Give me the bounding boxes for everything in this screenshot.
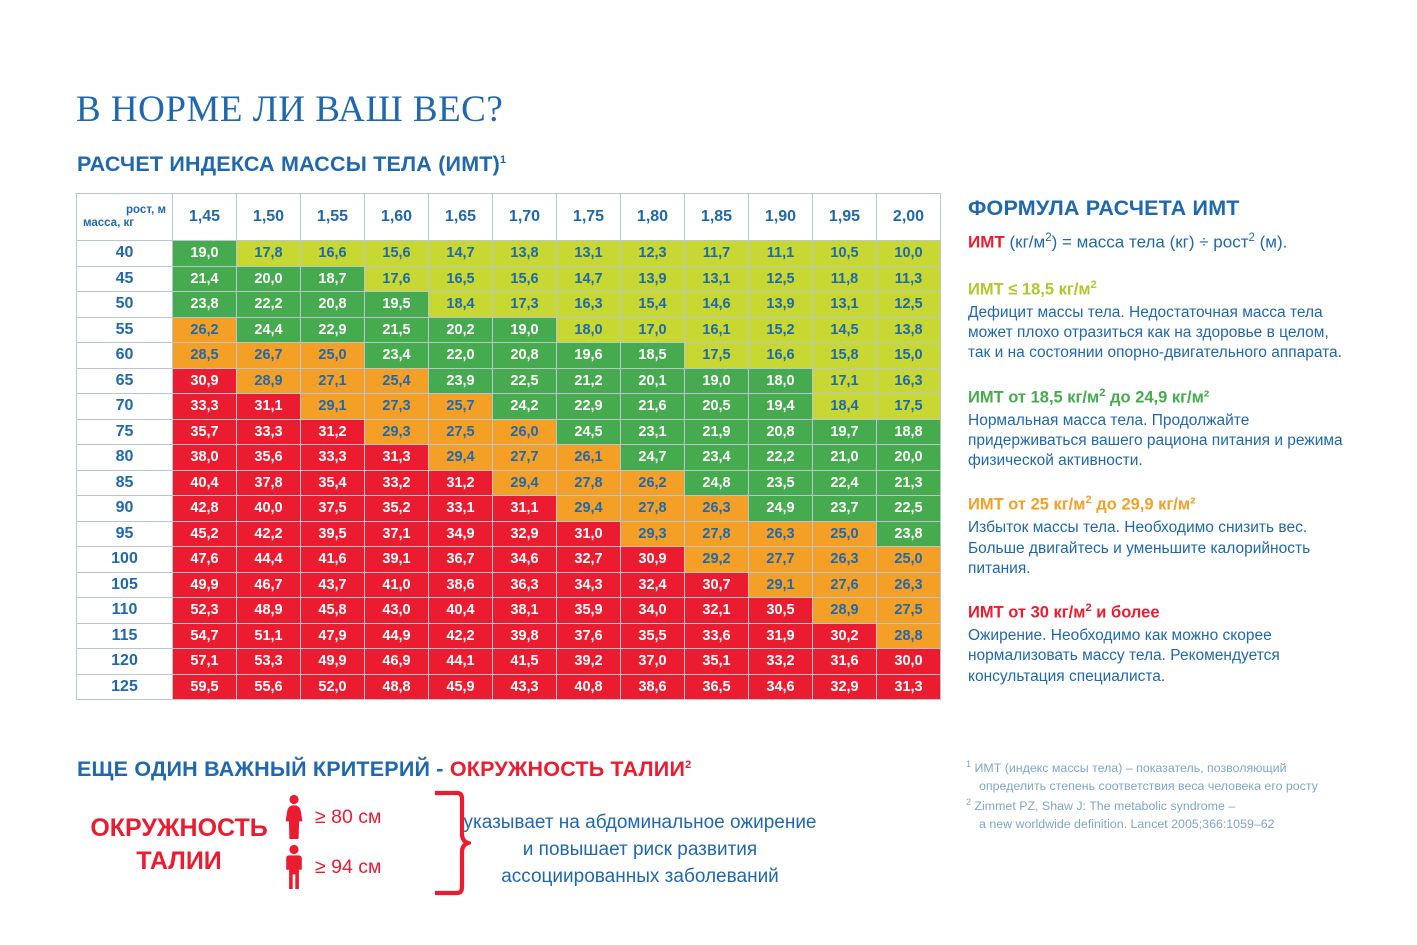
- table-row-header-weight: 80: [77, 445, 173, 471]
- bmi-cell: 29,3: [621, 521, 685, 547]
- bmi-table-body: 4019,017,816,615,614,713,813,112,311,711…: [77, 241, 941, 700]
- bmi-cell: 26,2: [173, 317, 237, 343]
- bmi-cell: 19,0: [493, 317, 557, 343]
- table-row-header-weight: 65: [77, 368, 173, 394]
- bmi-cell: 24,5: [557, 419, 621, 445]
- bmi-cell: 21,9: [685, 419, 749, 445]
- footnote-marker-2: 2: [685, 759, 691, 771]
- footnote-1-line1: ИМТ (индекс массы тела) – показатель, по…: [974, 761, 1286, 775]
- bmi-cell: 35,5: [621, 623, 685, 649]
- bmi-cell: 18,8: [877, 419, 941, 445]
- footnotes: 1 ИМТ (индекс массы тела) – показатель, …: [966, 758, 1358, 835]
- table-row: 11052,348,945,843,040,438,135,934,032,13…: [77, 598, 941, 624]
- waist-row-male: ≥ 94 см: [281, 844, 381, 890]
- bmi-cell: 48,8: [365, 674, 429, 700]
- formula-eq-part3: (м).: [1255, 233, 1287, 252]
- table-col-header-height: 1,80: [621, 194, 685, 241]
- bmi-cell: 27,8: [685, 521, 749, 547]
- table-row: 11554,751,147,944,942,239,837,635,533,63…: [77, 623, 941, 649]
- bmi-cell: 25,4: [365, 368, 429, 394]
- bmi-cell: 23,4: [365, 343, 429, 369]
- table-header-row: рост, м масса, кг 1,451,501,551,601,651,…: [77, 194, 941, 241]
- bmi-cell: 37,1: [365, 521, 429, 547]
- bmi-cell: 14,6: [685, 292, 749, 318]
- bmi-cell: 26,3: [813, 547, 877, 573]
- bmi-category-heading-post: до 24,9 кг/м²: [1105, 388, 1209, 406]
- bmi-cell: 20,0: [877, 445, 941, 471]
- bmi-cell: 20,2: [429, 317, 493, 343]
- bmi-cell: 39,2: [557, 649, 621, 675]
- bmi-cell: 36,3: [493, 572, 557, 598]
- bmi-category-heading: ИМТ ≤ 18,5 кг/м2: [968, 278, 1348, 301]
- bmi-cell: 38,6: [621, 674, 685, 700]
- bmi-cell: 18,4: [813, 394, 877, 420]
- table-row: 9042,840,037,535,233,131,129,427,826,324…: [77, 496, 941, 522]
- table-row: 6028,526,725,023,422,020,819,618,517,516…: [77, 343, 941, 369]
- bmi-cell: 27,1: [301, 368, 365, 394]
- bmi-category-normal: ИМТ от 18,5 кг/м2 до 24,9 кг/м²Нормальна…: [968, 386, 1348, 472]
- bmi-cell: 47,6: [173, 547, 237, 573]
- bmi-cell: 27,3: [365, 394, 429, 420]
- bmi-cell: 18,4: [429, 292, 493, 318]
- bmi-cell: 47,9: [301, 623, 365, 649]
- bmi-cell: 28,9: [813, 598, 877, 624]
- table-col-header-height: 1,90: [749, 194, 813, 241]
- bmi-cell: 17,1: [813, 368, 877, 394]
- bmi-cell: 28,5: [173, 343, 237, 369]
- bmi-cell: 13,1: [813, 292, 877, 318]
- bmi-cell: 27,8: [621, 496, 685, 522]
- bmi-cell: 17,8: [237, 241, 301, 267]
- bmi-cell: 14,5: [813, 317, 877, 343]
- bmi-cell: 24,8: [685, 470, 749, 496]
- bmi-cell: 37,0: [621, 649, 685, 675]
- bmi-table: рост, м масса, кг 1,451,501,551,601,651,…: [76, 193, 941, 700]
- table-row-header-weight: 125: [77, 674, 173, 700]
- bmi-cell: 21,6: [621, 394, 685, 420]
- section-title-waist: ЕЩЕ ОДИН ВАЖНЫЙ КРИТЕРИЙ - ОКРУЖНОСТЬ ТА…: [77, 757, 691, 782]
- bmi-cell: 11,7: [685, 241, 749, 267]
- male-waist-value: ≥ 94 см: [315, 856, 381, 879]
- bmi-cell: 36,7: [429, 547, 493, 573]
- waist-label-line2: ТАЛИИ: [136, 847, 222, 875]
- bmi-cell: 29,3: [365, 419, 429, 445]
- table-col-header-height: 1,55: [301, 194, 365, 241]
- bmi-category-description: Дефицит массы тела. Недостаточная масса …: [968, 303, 1348, 364]
- bmi-cell: 19,7: [813, 419, 877, 445]
- bmi-cell: 22,4: [813, 470, 877, 496]
- bmi-cell: 46,7: [237, 572, 301, 598]
- table-row-header-weight: 120: [77, 649, 173, 675]
- bmi-cell: 48,9: [237, 598, 301, 624]
- bmi-cell: 34,3: [557, 572, 621, 598]
- table-row: 8540,437,835,433,231,229,427,826,224,823…: [77, 470, 941, 496]
- bmi-cell: 24,7: [621, 445, 685, 471]
- table-row-header-weight: 50: [77, 292, 173, 318]
- bmi-cell: 10,5: [813, 241, 877, 267]
- bmi-cell: 57,1: [173, 649, 237, 675]
- bmi-cell: 19,0: [685, 368, 749, 394]
- bmi-cell: 43,3: [493, 674, 557, 700]
- bmi-cell: 26,3: [749, 521, 813, 547]
- bmi-cell: 12,5: [749, 266, 813, 292]
- bmi-cell: 54,7: [173, 623, 237, 649]
- bmi-cell: 22,5: [877, 496, 941, 522]
- bmi-cell: 23,8: [877, 521, 941, 547]
- bmi-category-heading-post: и более: [1092, 604, 1160, 622]
- bmi-cell: 35,4: [301, 470, 365, 496]
- bmi-cell: 19,0: [173, 241, 237, 267]
- bmi-cell: 28,8: [877, 623, 941, 649]
- bmi-category-description: Нормальная масса тела. Продолжайте приде…: [968, 411, 1348, 472]
- bmi-cell: 26,1: [557, 445, 621, 471]
- bmi-cell: 27,5: [429, 419, 493, 445]
- bmi-category-over: ИМТ от 25 кг/м2 до 29,9 кг/м²Избыток мас…: [968, 493, 1348, 579]
- waist-label-line1: ОКРУЖНОСТЬ: [90, 814, 267, 842]
- table-row: 6530,928,927,125,423,922,521,220,119,018…: [77, 368, 941, 394]
- table-row: 10549,946,743,741,038,636,334,332,430,72…: [77, 572, 941, 598]
- bmi-cell: 29,1: [301, 394, 365, 420]
- bmi-cell: 19,4: [749, 394, 813, 420]
- bmi-cell: 26,3: [685, 496, 749, 522]
- bmi-cell: 24,9: [749, 496, 813, 522]
- bmi-category-under: ИМТ ≤ 18,5 кг/м2Дефицит массы тела. Недо…: [968, 278, 1348, 364]
- table-row-header-weight: 90: [77, 496, 173, 522]
- bmi-cell: 26,7: [237, 343, 301, 369]
- bmi-cell: 14,7: [557, 266, 621, 292]
- waist-desc-line3: ассоциированных заболеваний: [501, 866, 779, 887]
- bmi-category-obese: ИМТ от 30 кг/м2 и болееОжирение. Необход…: [968, 601, 1348, 687]
- bmi-cell: 33,3: [237, 419, 301, 445]
- bmi-cell: 31,2: [301, 419, 365, 445]
- bmi-cell: 16,6: [301, 241, 365, 267]
- table-col-header-height: 1,70: [493, 194, 557, 241]
- bmi-cell: 44,9: [365, 623, 429, 649]
- formula-equation: ИМТ (кг/м2) = масса тела (кг) ÷ рост2 (м…: [968, 231, 1348, 254]
- bmi-cell: 44,1: [429, 649, 493, 675]
- bmi-cell: 31,9: [749, 623, 813, 649]
- table-col-header-height: 1,45: [173, 194, 237, 241]
- table-col-header-height: 1,75: [557, 194, 621, 241]
- bmi-cell: 13,8: [493, 241, 557, 267]
- bmi-cell: 52,0: [301, 674, 365, 700]
- waist-title-highlight: ОКРУЖНОСТЬ ТАЛИИ: [450, 757, 685, 781]
- bmi-cell: 42,8: [173, 496, 237, 522]
- bmi-cell: 15,6: [493, 266, 557, 292]
- bmi-cell: 13,9: [621, 266, 685, 292]
- waist-desc-line1: указывает на абдоминальное ожирение: [463, 812, 816, 833]
- bmi-cell: 15,6: [365, 241, 429, 267]
- bmi-cell: 24,4: [237, 317, 301, 343]
- bmi-cell: 34,6: [749, 674, 813, 700]
- bmi-cell: 33,3: [301, 445, 365, 471]
- waist-label: ОКРУЖНОСТЬ ТАЛИИ: [84, 812, 274, 878]
- bmi-cell: 27,5: [877, 598, 941, 624]
- bmi-cell: 15,8: [813, 343, 877, 369]
- bmi-cell: 40,8: [557, 674, 621, 700]
- bmi-category-heading-pre: ИМТ от 25 кг/м: [968, 496, 1085, 514]
- bmi-cell: 36,5: [685, 674, 749, 700]
- bmi-cell: 32,9: [493, 521, 557, 547]
- bmi-cell: 34,0: [621, 598, 685, 624]
- bmi-cell: 11,3: [877, 266, 941, 292]
- footnote-2-line2: a new worldwide definition. Lancet 2005;…: [979, 816, 1358, 834]
- table-row-header-weight: 55: [77, 317, 173, 343]
- bmi-cell: 26,0: [493, 419, 557, 445]
- bmi-cell: 23,1: [621, 419, 685, 445]
- female-waist-value: ≥ 80 см: [315, 806, 381, 829]
- bmi-cell: 17,6: [365, 266, 429, 292]
- bmi-cell: 45,8: [301, 598, 365, 624]
- formula-eq-part2: ) = масса тела (кг) ÷ рост: [1052, 233, 1249, 252]
- waist-title-prefix: ЕЩЕ ОДИН ВАЖНЫЙ КРИТЕРИЙ -: [77, 757, 450, 781]
- bmi-cell: 30,2: [813, 623, 877, 649]
- bmi-cell: 13,1: [685, 266, 749, 292]
- bmi-cell: 16,3: [877, 368, 941, 394]
- bmi-cell: 41,0: [365, 572, 429, 598]
- bmi-cell: 43,0: [365, 598, 429, 624]
- bmi-cell: 53,3: [237, 649, 301, 675]
- footnote-1-marker: 1: [966, 759, 971, 769]
- bmi-cell: 37,5: [301, 496, 365, 522]
- bmi-cell: 31,1: [493, 496, 557, 522]
- table-row: 12057,153,349,946,944,141,539,237,035,13…: [77, 649, 941, 675]
- formula-eq-part1: (кг/м: [1005, 233, 1045, 252]
- bmi-cell: 11,8: [813, 266, 877, 292]
- bmi-category-heading-post: до 29,9 кг/м²: [1092, 496, 1196, 514]
- bmi-cell: 31,0: [557, 521, 621, 547]
- bmi-cell: 21,3: [877, 470, 941, 496]
- bmi-category-description: Ожирение. Необходимо как можно скорее но…: [968, 626, 1348, 687]
- bmi-cell: 33,6: [685, 623, 749, 649]
- footnote-1-line2: определить степень соответствия веса чел…: [979, 778, 1358, 796]
- bmi-cell: 18,7: [301, 266, 365, 292]
- corner-weight-label: масса, кг: [83, 217, 166, 230]
- bmi-cell: 52,3: [173, 598, 237, 624]
- table-col-header-height: 2,00: [877, 194, 941, 241]
- bmi-cell: 30,7: [685, 572, 749, 598]
- bmi-cell: 31,3: [877, 674, 941, 700]
- bmi-cell: 40,4: [429, 598, 493, 624]
- table-col-header-height: 1,85: [685, 194, 749, 241]
- bmi-cell: 16,3: [557, 292, 621, 318]
- bmi-cell: 11,1: [749, 241, 813, 267]
- table-row-header-weight: 85: [77, 470, 173, 496]
- page-title: В НОРМЕ ЛИ ВАШ ВЕС?: [76, 88, 503, 131]
- bmi-category-heading-pre: ИМТ от 18,5 кг/м: [968, 388, 1099, 406]
- table-col-header-height: 1,95: [813, 194, 877, 241]
- table-row-header-weight: 60: [77, 343, 173, 369]
- bmi-cell: 29,4: [557, 496, 621, 522]
- table-row-header-weight: 100: [77, 547, 173, 573]
- bmi-cell: 22,5: [493, 368, 557, 394]
- bmi-cell: 41,5: [493, 649, 557, 675]
- bmi-cell: 15,4: [621, 292, 685, 318]
- bmi-cell: 22,2: [749, 445, 813, 471]
- bmi-cell: 30,0: [877, 649, 941, 675]
- bmi-cell: 23,5: [749, 470, 813, 496]
- bmi-cell: 46,9: [365, 649, 429, 675]
- bmi-cell: 39,8: [493, 623, 557, 649]
- table-row: 4521,420,018,717,616,515,614,713,913,112…: [77, 266, 941, 292]
- bmi-cell: 13,9: [749, 292, 813, 318]
- table-col-header-height: 1,50: [237, 194, 301, 241]
- bmi-cell: 30,9: [173, 368, 237, 394]
- formula-title: ФОРМУЛА РАСЧЕТА ИМТ: [968, 196, 1348, 221]
- table-col-header-height: 1,60: [365, 194, 429, 241]
- bmi-cell: 31,6: [813, 649, 877, 675]
- bmi-cell: 20,8: [749, 419, 813, 445]
- bmi-cell: 33,2: [749, 649, 813, 675]
- bmi-cell: 32,9: [813, 674, 877, 700]
- bmi-cell: 17,5: [877, 394, 941, 420]
- footnote-marker-1: 1: [500, 154, 506, 166]
- formula-imt-label: ИМТ: [968, 233, 1005, 252]
- bmi-cell: 34,6: [493, 547, 557, 573]
- table-row: 12559,555,652,048,845,943,340,838,636,53…: [77, 674, 941, 700]
- bmi-cell: 22,9: [557, 394, 621, 420]
- bmi-cell: 38,0: [173, 445, 237, 471]
- bmi-cell: 49,9: [301, 649, 365, 675]
- table-row-header-weight: 95: [77, 521, 173, 547]
- bmi-cell: 39,5: [301, 521, 365, 547]
- bmi-cell: 25,7: [429, 394, 493, 420]
- bmi-cell: 31,2: [429, 470, 493, 496]
- table-col-header-height: 1,65: [429, 194, 493, 241]
- bmi-cell: 21,4: [173, 266, 237, 292]
- bmi-cell: 27,8: [557, 470, 621, 496]
- bmi-cell: 16,1: [685, 317, 749, 343]
- bmi-cell: 12,3: [621, 241, 685, 267]
- bmi-cell: 27,7: [493, 445, 557, 471]
- bmi-cell: 18,0: [557, 317, 621, 343]
- bmi-cell: 40,4: [173, 470, 237, 496]
- bmi-category-heading-exponent: 2: [1091, 279, 1097, 291]
- bmi-category-heading-pre: ИМТ от 30 кг/м: [968, 604, 1085, 622]
- bmi-category-list: ИМТ ≤ 18,5 кг/м2Дефицит массы тела. Недо…: [968, 278, 1348, 687]
- table-row-header-weight: 70: [77, 394, 173, 420]
- bmi-cell: 37,6: [557, 623, 621, 649]
- bmi-cell: 28,9: [237, 368, 301, 394]
- waist-row-female: ≥ 80 см: [281, 794, 381, 840]
- bmi-cell: 37,8: [237, 470, 301, 496]
- section-title-bmi-text: РАСЧЕТ ИНДЕКСА МАССЫ ТЕЛА (ИМТ): [77, 152, 500, 176]
- bmi-cell: 20,8: [493, 343, 557, 369]
- bmi-cell: 30,9: [621, 547, 685, 573]
- table-row-header-weight: 105: [77, 572, 173, 598]
- bmi-cell: 42,2: [429, 623, 493, 649]
- bmi-cell: 22,9: [301, 317, 365, 343]
- table-row: 4019,017,816,615,614,713,813,112,311,711…: [77, 241, 941, 267]
- bmi-cell: 29,4: [493, 470, 557, 496]
- bmi-cell: 19,5: [365, 292, 429, 318]
- bmi-cell: 35,2: [365, 496, 429, 522]
- bmi-cell: 32,7: [557, 547, 621, 573]
- bmi-cell: 23,4: [685, 445, 749, 471]
- bmi-cell: 32,1: [685, 598, 749, 624]
- bmi-cell: 25,0: [301, 343, 365, 369]
- table-corner-cell: рост, м масса, кг: [77, 194, 173, 241]
- bmi-cell: 45,9: [429, 674, 493, 700]
- table-row: 5526,224,422,921,520,219,018,017,016,115…: [77, 317, 941, 343]
- bmi-cell: 16,6: [749, 343, 813, 369]
- bmi-cell: 17,0: [621, 317, 685, 343]
- bmi-category-description: Избыток массы тела. Необходимо снизить в…: [968, 518, 1348, 579]
- bmi-cell: 33,3: [173, 394, 237, 420]
- table-row-header-weight: 115: [77, 623, 173, 649]
- bmi-cell: 38,6: [429, 572, 493, 598]
- bmi-category-heading: ИМТ от 30 кг/м2 и более: [968, 601, 1348, 624]
- bmi-cell: 17,3: [493, 292, 557, 318]
- table-row: 8038,035,633,331,329,427,726,124,723,422…: [77, 445, 941, 471]
- bmi-cell: 39,1: [365, 547, 429, 573]
- bmi-cell: 55,6: [237, 674, 301, 700]
- bmi-cell: 49,9: [173, 572, 237, 598]
- bmi-cell: 34,9: [429, 521, 493, 547]
- bmi-cell: 35,6: [237, 445, 301, 471]
- bmi-cell: 18,0: [749, 368, 813, 394]
- bmi-cell: 35,9: [557, 598, 621, 624]
- bmi-cell: 14,7: [429, 241, 493, 267]
- bmi-cell: 12,5: [877, 292, 941, 318]
- table-row: 9545,242,239,537,134,932,931,029,327,826…: [77, 521, 941, 547]
- footnote-2-line1: Zimmet PZ, Shaw J: The metabolic syndrom…: [974, 799, 1235, 813]
- bmi-cell: 33,2: [365, 470, 429, 496]
- section-title-bmi: РАСЧЕТ ИНДЕКСА МАССЫ ТЕЛА (ИМТ)1: [77, 152, 506, 177]
- bmi-cell: 43,7: [301, 572, 365, 598]
- bmi-cell: 32,4: [621, 572, 685, 598]
- bmi-cell: 31,3: [365, 445, 429, 471]
- bmi-cell: 40,0: [237, 496, 301, 522]
- bmi-cell: 26,2: [621, 470, 685, 496]
- bmi-cell: 25,0: [813, 521, 877, 547]
- bmi-cell: 21,0: [813, 445, 877, 471]
- bmi-cell: 21,2: [557, 368, 621, 394]
- bmi-cell: 19,6: [557, 343, 621, 369]
- bmi-category-heading-pre: ИМТ ≤ 18,5 кг/м: [968, 280, 1091, 298]
- female-figure-icon: [281, 794, 307, 840]
- bmi-cell: 23,8: [173, 292, 237, 318]
- bmi-category-heading: ИМТ от 25 кг/м2 до 29,9 кг/м²: [968, 493, 1348, 516]
- table-row-header-weight: 45: [77, 266, 173, 292]
- table-row: 7535,733,331,229,327,526,024,523,121,920…: [77, 419, 941, 445]
- waist-description: указывает на абдоминальное ожирение и по…: [415, 810, 865, 891]
- bmi-cell: 15,0: [877, 343, 941, 369]
- bmi-cell: 22,2: [237, 292, 301, 318]
- bmi-cell: 13,8: [877, 317, 941, 343]
- table-row: 10047,644,441,639,136,734,632,730,929,22…: [77, 547, 941, 573]
- bmi-cell: 13,1: [557, 241, 621, 267]
- bmi-cell: 27,7: [749, 547, 813, 573]
- table-row: 5023,822,220,819,518,417,316,315,414,613…: [77, 292, 941, 318]
- bmi-cell: 42,2: [237, 521, 301, 547]
- bmi-cell: 51,1: [237, 623, 301, 649]
- bmi-cell: 24,2: [493, 394, 557, 420]
- bmi-cell: 29,1: [749, 572, 813, 598]
- bmi-cell: 10,0: [877, 241, 941, 267]
- bmi-cell: 41,6: [301, 547, 365, 573]
- bmi-cell: 44,4: [237, 547, 301, 573]
- bmi-cell: 22,0: [429, 343, 493, 369]
- footnote-1: 1 ИМТ (индекс массы тела) – показатель, …: [966, 758, 1358, 795]
- corner-height-label: рост, м: [83, 204, 166, 217]
- bmi-cell: 27,6: [813, 572, 877, 598]
- infographic-page: В НОРМЕ ЛИ ВАШ ВЕС? РАСЧЕТ ИНДЕКСА МАССЫ…: [0, 0, 1417, 945]
- bmi-cell: 30,5: [749, 598, 813, 624]
- waist-desc-line2: и повышает риск развития: [523, 839, 757, 860]
- bmi-cell: 35,7: [173, 419, 237, 445]
- bmi-cell: 15,2: [749, 317, 813, 343]
